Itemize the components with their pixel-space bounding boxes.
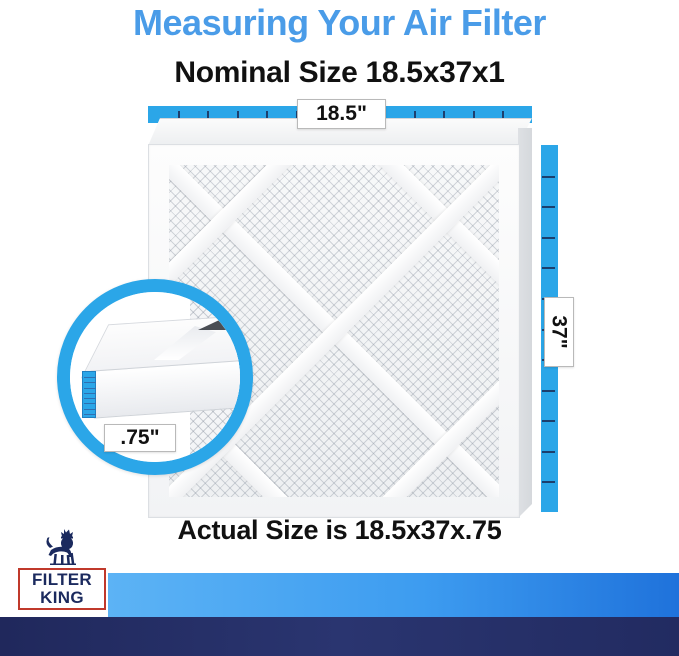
ruler-tick bbox=[84, 398, 96, 399]
page-title: Measuring Your Air Filter bbox=[0, 2, 679, 44]
ruler-tick bbox=[84, 403, 96, 404]
ruler-tick bbox=[542, 176, 555, 178]
brand-name-line1: FILTER bbox=[32, 571, 92, 589]
brand-name-line2: KING bbox=[40, 589, 84, 607]
ruler-tick bbox=[84, 382, 96, 383]
ruler-tick bbox=[84, 414, 96, 415]
width-callout-text: 18.5" bbox=[316, 102, 367, 126]
ruler-tick bbox=[542, 237, 555, 239]
ruler-tick bbox=[84, 377, 96, 378]
ruler-tick bbox=[542, 451, 555, 453]
ruler-tick bbox=[542, 206, 555, 208]
ruler-tick bbox=[84, 393, 96, 394]
ruler-tick bbox=[84, 388, 96, 389]
height-callout-text: 37" bbox=[547, 315, 571, 348]
ruler-tick bbox=[542, 390, 555, 392]
depth-callout-label: .75" bbox=[104, 424, 176, 452]
brand-logo[interactable]: FILTER KING bbox=[16, 528, 108, 616]
bottom-navy-banner bbox=[0, 617, 679, 656]
ruler-tick bbox=[542, 481, 555, 483]
height-callout-label: 37" bbox=[544, 297, 574, 367]
nominal-size-heading: Nominal Size 18.5x37x1 bbox=[0, 56, 679, 90]
depth-callout-text: .75" bbox=[120, 426, 159, 450]
ruler-tick bbox=[542, 267, 555, 269]
width-callout-label: 18.5" bbox=[297, 99, 386, 129]
depth-mini-ruler bbox=[82, 371, 96, 418]
bottom-blue-banner bbox=[108, 573, 679, 617]
brand-wordmark: FILTER KING bbox=[18, 568, 106, 610]
lion-crown-icon bbox=[36, 528, 90, 566]
infographic-canvas: Measuring Your Air Filter Nominal Size 1… bbox=[0, 0, 679, 656]
ruler-tick bbox=[84, 409, 96, 410]
ruler-tick bbox=[542, 420, 555, 422]
